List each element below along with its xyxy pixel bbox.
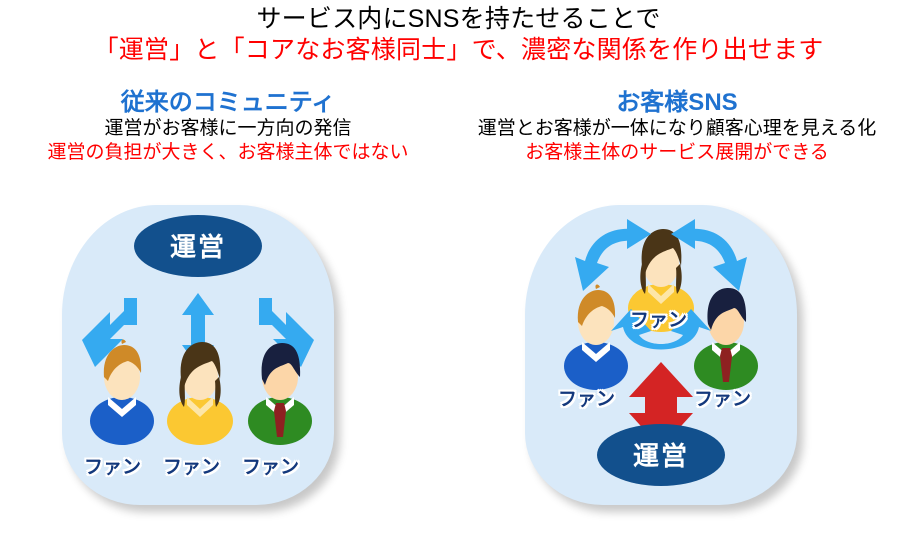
body-shape — [90, 397, 154, 445]
body-shape — [167, 397, 233, 445]
fan-label-left-2: ファン — [163, 452, 220, 479]
fan-figure-left-1 — [86, 333, 158, 445]
right-column-subtitle-2: お客様主体のサービス展開ができる — [452, 141, 902, 165]
fan-figure-left-2 — [164, 333, 236, 445]
page-title: サービス内にSNSを持たせることで 「運営」と「コアなお客様同士」で、濃密な関係… — [0, 4, 917, 66]
hair-tuft — [595, 285, 600, 289]
hair-tuft — [121, 340, 126, 344]
fan-label-left-1: ファン — [84, 452, 141, 479]
fan-label-right-top: ファン — [630, 305, 687, 332]
fan-figure-right-right — [690, 278, 762, 390]
left-column-subtitle-2: 運営の負担が大きく、お客様主体ではない — [18, 141, 438, 165]
operator-oval-left: 運営 — [134, 215, 262, 277]
fan-label-left-3: ファン — [242, 452, 299, 479]
left-column-heading-block: 従来のコミュニティ 運営がお客様に一方向の発信 運営の負担が大きく、お客様主体で… — [18, 88, 438, 165]
fan-label-right-right: ファン — [694, 384, 751, 411]
fan-label-right-left: ファン — [558, 384, 615, 411]
right-column-title: お客様SNS — [452, 88, 902, 117]
fan-figure-left-3 — [244, 333, 316, 445]
right-column-subtitle-1: 運営とお客様が一体になり顧客心理を見える化 — [452, 117, 902, 141]
operator-oval-right: 運営 — [597, 424, 725, 486]
body-shape — [564, 342, 628, 390]
title-line-2: 「運営」と「コアなお客様同士」で、濃密な関係を作り出せます — [0, 35, 917, 66]
right-column-heading-block: お客様SNS 運営とお客様が一体になり顧客心理を見える化 お客様主体のサービス展… — [452, 88, 902, 165]
left-column-subtitle-1: 運営がお客様に一方向の発信 — [18, 117, 438, 141]
operator-label-left: 運営 — [170, 227, 226, 264]
diagram-root: サービス内にSNSを持たせることで 「運営」と「コアなお客様同士」で、濃密な関係… — [0, 0, 917, 543]
title-line-1: サービス内にSNSを持たせることで — [0, 4, 917, 35]
operator-label-right: 運営 — [633, 436, 689, 473]
fan-figure-right-left — [560, 278, 632, 390]
left-column-title: 従来のコミュニティ — [18, 88, 438, 117]
